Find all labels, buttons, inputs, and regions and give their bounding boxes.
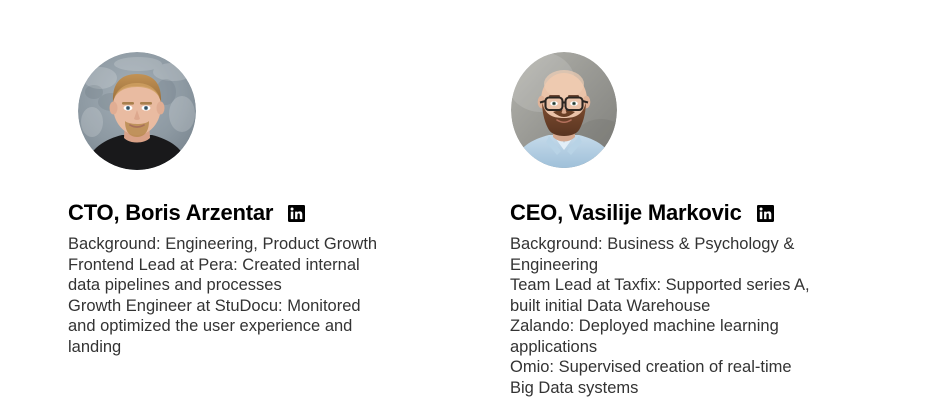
bio-line: data pipelines and processes [68, 275, 468, 296]
bio-line: Zalando: Deployed machine learning [510, 316, 910, 337]
profile-card-vasilije-markovic: CEO, Vasilije Markovic Background: Busin… [510, 52, 910, 168]
profile-name: CTO, Boris Arzentar [68, 200, 273, 226]
bio-line: applications [510, 337, 910, 358]
linkedin-glyph-icon [288, 205, 305, 222]
bio-line: Background: Business & Psychology & [510, 234, 910, 255]
profile-name-row: CEO, Vasilije Markovic [510, 200, 774, 226]
linkedin-glyph-icon [757, 205, 774, 222]
profile-bio: Background: Business & Psychology & Engi… [510, 234, 910, 398]
bio-line: Omio: Supervised creation of real-time [510, 357, 910, 378]
bio-line: Background: Engineering, Product Growth [68, 234, 468, 255]
avatar [78, 52, 196, 170]
bio-line: Team Lead at Taxfix: Supported series A, [510, 275, 910, 296]
bio-line: and optimized the user experience and [68, 316, 468, 337]
profile-name: CEO, Vasilije Markovic [510, 200, 742, 226]
bio-line: landing [68, 337, 468, 358]
linkedin-icon[interactable] [757, 205, 774, 222]
avatar-photo-icon [78, 52, 196, 170]
profile-card-boris-arzentar: CTO, Boris Arzentar Background: Engineer… [68, 52, 468, 170]
bio-line: Frontend Lead at Pera: Created internal [68, 255, 468, 276]
profiles-slide: CTO, Boris Arzentar Background: Engineer… [0, 0, 948, 412]
profile-bio: Background: Engineering, Product Growth … [68, 234, 468, 357]
profile-name-row: CTO, Boris Arzentar [68, 200, 305, 226]
bio-line: Engineering [510, 255, 910, 276]
avatar [511, 52, 617, 168]
avatar-photo-icon [511, 52, 617, 168]
bio-line: built initial Data Warehouse [510, 296, 910, 317]
bio-line: Growth Engineer at StuDocu: Monitored [68, 296, 468, 317]
linkedin-icon[interactable] [288, 205, 305, 222]
bio-line: Big Data systems [510, 378, 910, 399]
